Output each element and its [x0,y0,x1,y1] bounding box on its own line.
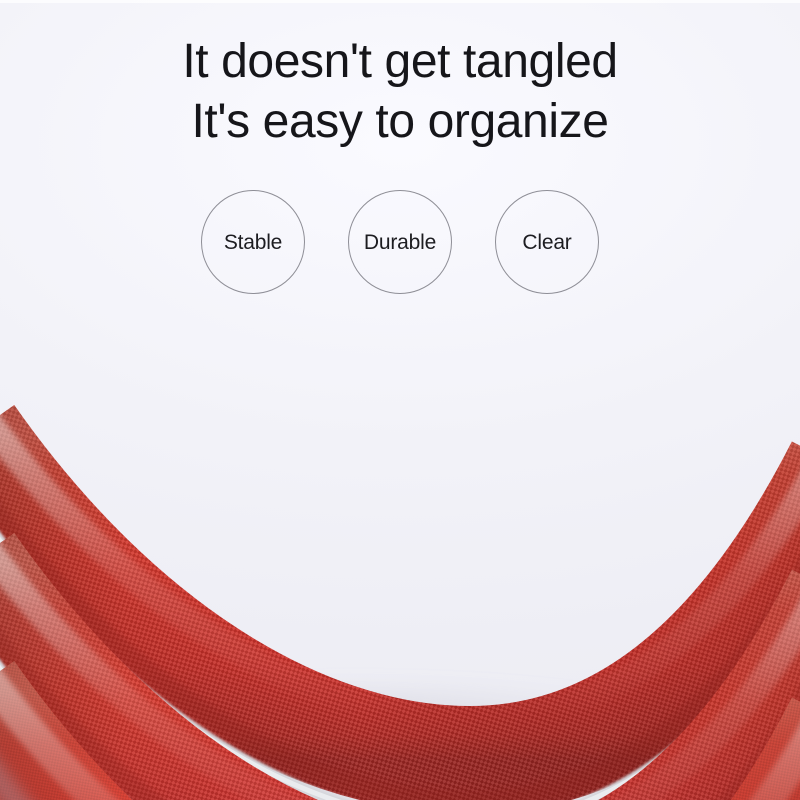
feature-badge-label: Stable [224,232,282,253]
feature-badge-label: Clear [522,232,571,253]
feature-badge-group: Stable Durable Clear [0,190,800,294]
product-banner: It doesn't get tangled It's easy to orga… [0,0,800,800]
feature-badge-label: Durable [364,232,436,253]
feature-badge-stable[interactable]: Stable [201,190,305,294]
page-title: It doesn't get tangled It's easy to orga… [0,32,800,152]
headline-line-1: It doesn't get tangled [0,32,800,92]
feature-badge-clear[interactable]: Clear [495,190,599,294]
headline-line-2: It's easy to organize [0,92,800,152]
feature-badge-durable[interactable]: Durable [348,190,452,294]
